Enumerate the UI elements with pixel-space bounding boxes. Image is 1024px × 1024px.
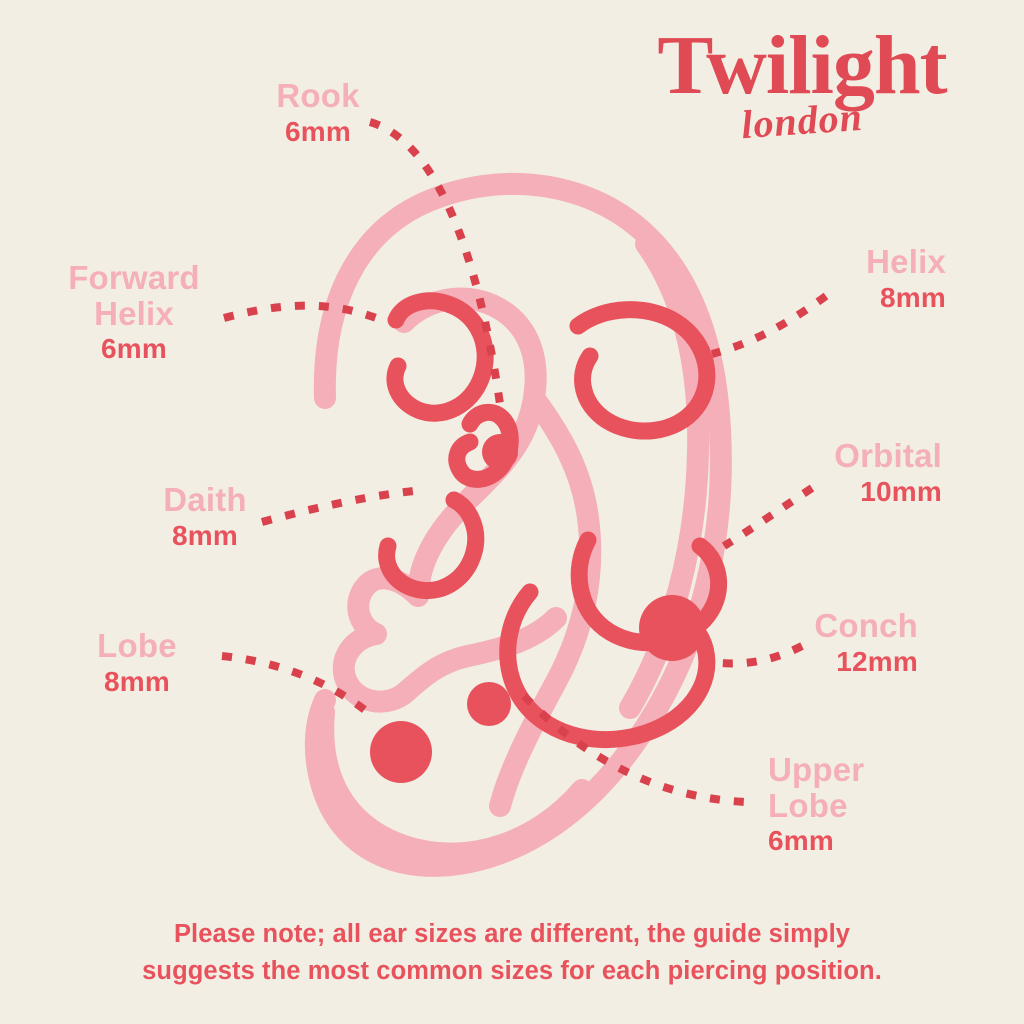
callout-upper-lobe-name-line2: Lobe — [768, 788, 998, 824]
leader-forward-helix — [224, 306, 386, 322]
ear-outline-group — [316, 184, 721, 866]
disclaimer-line-2: suggests the most common sizes for each … — [92, 953, 932, 990]
callout-orbital: Orbital 10mm — [696, 438, 942, 509]
callout-upper-lobe-size: 6mm — [768, 823, 998, 858]
callout-forward-helix: Forward Helix 6mm — [24, 260, 244, 366]
callout-helix: Helix 8mm — [706, 244, 946, 315]
leader-lobe — [222, 656, 370, 714]
callout-conch-size: 12mm — [692, 644, 918, 679]
callout-forward-helix-name-line2: Helix — [24, 296, 244, 332]
antihelix-lower-path — [500, 398, 590, 806]
callout-helix-name: Helix — [706, 244, 946, 280]
rook-bead — [482, 434, 518, 470]
forward-helix-hoop — [395, 301, 485, 413]
daith-hoop — [387, 500, 476, 591]
outer-helix-rim-path — [316, 184, 721, 866]
helix-hoop — [578, 310, 707, 431]
callout-upper-lobe-name-line1: Upper — [768, 752, 998, 788]
callout-upper-lobe: Upper Lobe 6mm — [768, 752, 998, 858]
disclaimer-line-1: Please note; all ear sizes are different… — [92, 916, 932, 953]
callout-daith-size: 8mm — [100, 518, 310, 553]
callout-rook: Rook 6mm — [218, 78, 418, 149]
callout-rook-size: 6mm — [218, 114, 418, 149]
lobe-curve-path — [323, 712, 582, 854]
antihelix-upper-path — [404, 299, 536, 596]
helix-crus-path — [630, 244, 698, 708]
leader-rook — [370, 122, 500, 404]
callout-conch-name: Conch — [692, 608, 918, 644]
leader-upper-lobe — [524, 696, 746, 802]
callout-rook-name: Rook — [218, 78, 418, 114]
callout-daith-name: Daith — [100, 482, 310, 518]
disclaimer-note: Please note; all ear sizes are different… — [92, 916, 932, 990]
conch-hoop — [508, 592, 707, 740]
upper-lobe-stud — [467, 682, 511, 726]
callout-lobe: Lobe 8mm — [42, 628, 232, 699]
callout-forward-helix-size: 6mm — [24, 331, 244, 366]
lobe-stud — [370, 721, 432, 783]
brand-logo: Twilight london — [612, 26, 992, 141]
rook-curved-barbell — [457, 412, 510, 479]
callout-orbital-name: Orbital — [696, 438, 942, 474]
infographic-canvas: Twilight london Rook 6mm Forward Helix 6… — [0, 0, 1024, 1024]
jewelry-group — [370, 301, 719, 783]
callout-daith: Daith 8mm — [100, 482, 310, 553]
callout-conch: Conch 12mm — [692, 608, 918, 679]
callout-forward-helix-name-line1: Forward — [24, 260, 244, 296]
tragus-concha-path — [344, 578, 556, 701]
callout-lobe-size: 8mm — [42, 664, 232, 699]
callout-orbital-size: 10mm — [696, 474, 942, 509]
callout-lobe-name: Lobe — [42, 628, 232, 664]
callout-helix-size: 8mm — [706, 280, 946, 315]
